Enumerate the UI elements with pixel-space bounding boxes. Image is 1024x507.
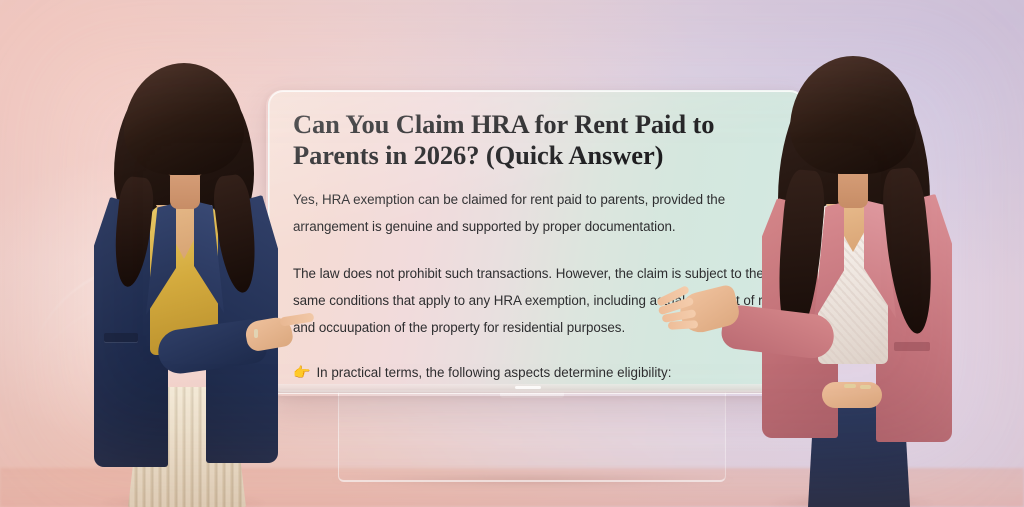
scene-vignette bbox=[0, 0, 1024, 507]
presentation-scene: Can You Claim HRA for Rent Paid to Paren… bbox=[0, 0, 1024, 507]
